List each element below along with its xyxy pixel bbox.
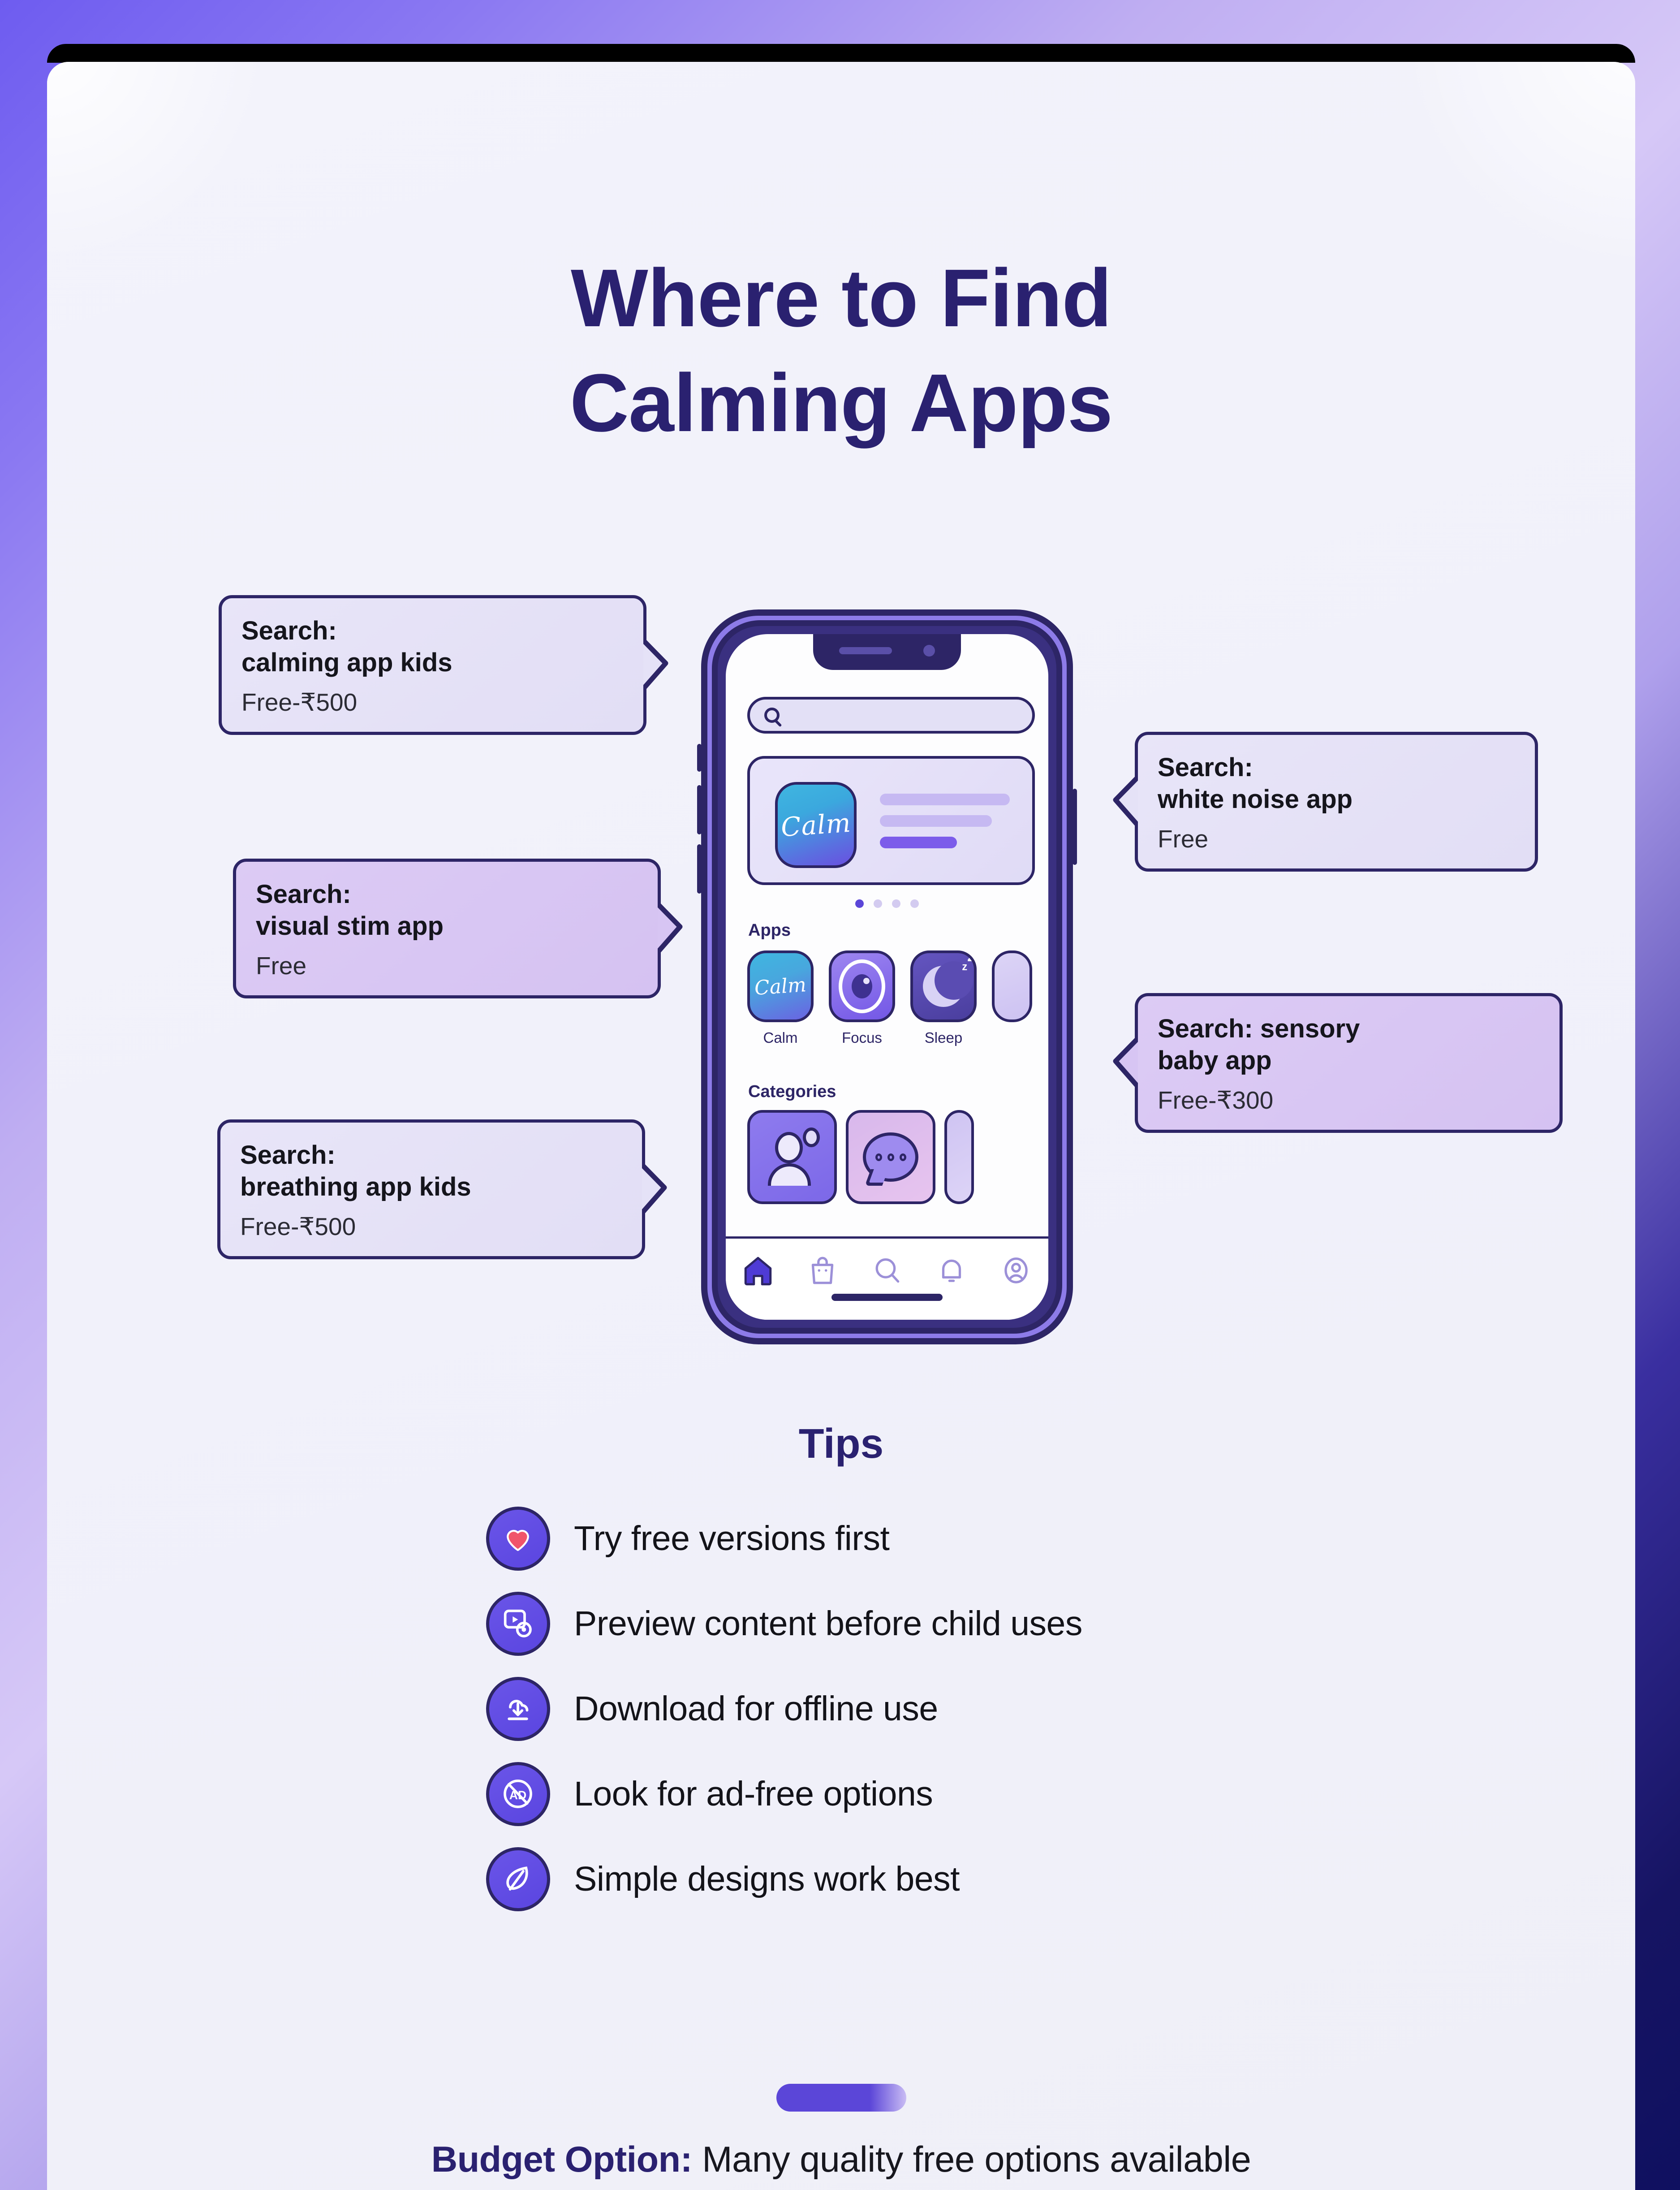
- featured-app-card[interactable]: Calm: [747, 756, 1035, 885]
- tip-text: Look for ad-free options: [574, 1774, 933, 1814]
- callout-query: white noise app: [1158, 785, 1353, 814]
- section-label-apps: Apps: [748, 921, 791, 940]
- footer-label: Budget Option:: [431, 2139, 692, 2180]
- tip-text: Try free versions first: [574, 1519, 889, 1559]
- bell-icon[interactable]: [935, 1254, 968, 1287]
- app-name: Focus: [829, 1029, 895, 1046]
- progress-pill: [776, 2084, 906, 2112]
- categories-row: [747, 1110, 974, 1204]
- tip-badge: [473, 1505, 563, 1572]
- person-icon: [765, 1130, 819, 1184]
- heart-icon: [486, 1507, 550, 1571]
- callout-label: Search:: [241, 616, 337, 645]
- footer-text: Many quality free options available: [692, 2139, 1251, 2180]
- phone-mockup: Calm Apps: [701, 609, 1073, 1344]
- tip-text: Preview content before child uses: [574, 1604, 1082, 1644]
- tip-row: Download for offline use: [473, 1666, 1082, 1751]
- tip-text: Simple designs work best: [574, 1859, 960, 1899]
- tip-badge: [473, 1675, 563, 1742]
- tip-text: Download for offline use: [574, 1689, 938, 1729]
- category-tile-chat[interactable]: [846, 1110, 935, 1204]
- pager-dot[interactable]: [910, 899, 919, 908]
- title-line-2: Calming Apps: [47, 350, 1635, 455]
- app-item-sleep[interactable]: Zz Sleep: [910, 950, 977, 1046]
- home-icon[interactable]: [741, 1254, 775, 1287]
- tip-row: Try free versions first: [473, 1496, 1082, 1581]
- tip-row: AD Look for ad-free options: [473, 1751, 1082, 1836]
- search-icon[interactable]: [870, 1254, 904, 1287]
- app-store-search-input[interactable]: [747, 697, 1035, 734]
- get-button-placeholder[interactable]: [880, 837, 957, 848]
- chat-bubble-icon: [863, 1132, 918, 1182]
- callout-tail-right-icon: [658, 902, 684, 955]
- tips-list: Try free versions first Preview content …: [473, 1496, 1082, 1922]
- section-label-categories: Categories: [748, 1082, 836, 1101]
- tip-badge: [473, 1590, 563, 1657]
- category-tile-person[interactable]: [747, 1110, 837, 1204]
- callout-query: visual stim app: [256, 911, 444, 941]
- no-ads-icon: AD: [486, 1762, 550, 1826]
- carousel-pager[interactable]: [855, 899, 919, 908]
- tip-row: Simple designs work best: [473, 1836, 1082, 1922]
- leaf-icon: [486, 1847, 550, 1911]
- tip-badge: [473, 1845, 563, 1913]
- infographic-card: Where to Find Calming Apps Search: calmi…: [47, 62, 1635, 2190]
- app-name: Sleep: [910, 1029, 977, 1046]
- app-name: Calm: [747, 1029, 814, 1046]
- calm-wordmark: Calm: [780, 808, 852, 843]
- callout-tail-right-icon: [642, 1163, 668, 1216]
- tip-row: Preview content before child uses: [473, 1581, 1082, 1666]
- callout-query: calming app kids: [241, 648, 452, 677]
- callout-tail-left-icon: [1112, 775, 1138, 828]
- callout-price: Free: [256, 951, 638, 980]
- callout-visual-stim-app[interactable]: Search: visual stim app Free: [233, 859, 661, 998]
- phone-front-camera: [923, 645, 935, 657]
- callout-tail-right-icon: [643, 639, 669, 691]
- callout-query: baby app: [1158, 1046, 1272, 1075]
- callout-white-noise-app[interactable]: Search: white noise app Free: [1135, 732, 1538, 872]
- app-item-partial[interactable]: [992, 950, 1032, 1022]
- window-top-bar: [47, 44, 1635, 63]
- callout-label: Search:: [240, 1140, 336, 1170]
- title-line-1: Where to Find: [47, 246, 1635, 350]
- placeholder-line: [880, 794, 1010, 805]
- category-tile-partial[interactable]: [944, 1110, 974, 1204]
- pager-dot[interactable]: [874, 899, 882, 908]
- phone-speaker: [839, 647, 892, 654]
- calm-app-icon: Calm: [775, 782, 857, 868]
- page-title: Where to Find Calming Apps: [47, 246, 1635, 455]
- phone-notch: [813, 634, 961, 670]
- search-icon: [764, 708, 780, 723]
- callout-price: Free-₹500: [241, 688, 624, 717]
- svg-text:AD: AD: [509, 1788, 526, 1802]
- preview-eye-icon: [486, 1592, 550, 1656]
- cloud-download-icon: [486, 1677, 550, 1741]
- home-indicator: [831, 1294, 943, 1301]
- bottom-nav-bar: [726, 1236, 1048, 1320]
- callout-sensory-baby-app[interactable]: Search: sensory baby app Free-₹300: [1135, 993, 1563, 1133]
- pager-dot-active[interactable]: [855, 899, 864, 908]
- callout-price: Free-₹300: [1158, 1086, 1540, 1114]
- callout-breathing-app-kids[interactable]: Search: breathing app kids Free-₹500: [217, 1119, 645, 1259]
- callout-price: Free-₹500: [240, 1212, 622, 1241]
- tips-heading: Tips: [47, 1420, 1635, 1468]
- callout-label: Search:: [256, 880, 351, 909]
- phone-screen: Calm Apps: [726, 634, 1048, 1320]
- phone-power-button[interactable]: [1073, 789, 1077, 865]
- app-item-focus[interactable]: Focus: [829, 950, 895, 1046]
- profile-icon[interactable]: [999, 1254, 1033, 1287]
- callout-calming-app-kids[interactable]: Search: calming app kids Free-₹500: [219, 595, 646, 735]
- callout-label: Search: sensory: [1158, 1014, 1360, 1043]
- pager-dot[interactable]: [892, 899, 900, 908]
- shopping-bag-icon[interactable]: [806, 1254, 839, 1287]
- phone-inner-bezel: Calm Apps: [712, 620, 1062, 1334]
- footer-budget-note: Budget Option: Many quality free options…: [47, 2139, 1635, 2181]
- callout-label: Search:: [1158, 753, 1253, 782]
- featured-placeholder-lines: [880, 794, 1010, 858]
- callout-tail-left-icon: [1112, 1037, 1138, 1089]
- callout-query: breathing app kids: [240, 1172, 471, 1201]
- callout-price: Free: [1158, 825, 1515, 853]
- apps-row: Calm Calm Focus Zz: [747, 950, 1032, 1046]
- moon-sleep-icon: Zz: [910, 950, 977, 1022]
- tip-badge: AD: [473, 1760, 563, 1827]
- placeholder-line: [880, 815, 992, 827]
- eye-icon: [829, 950, 895, 1022]
- phone-volume-down-button[interactable]: [697, 844, 702, 894]
- phone-mute-button[interactable]: [697, 744, 702, 772]
- app-item-calm[interactable]: Calm Calm: [747, 950, 814, 1046]
- calm-wordmark-icon: Calm: [747, 950, 814, 1022]
- phone-volume-up-button[interactable]: [697, 785, 702, 834]
